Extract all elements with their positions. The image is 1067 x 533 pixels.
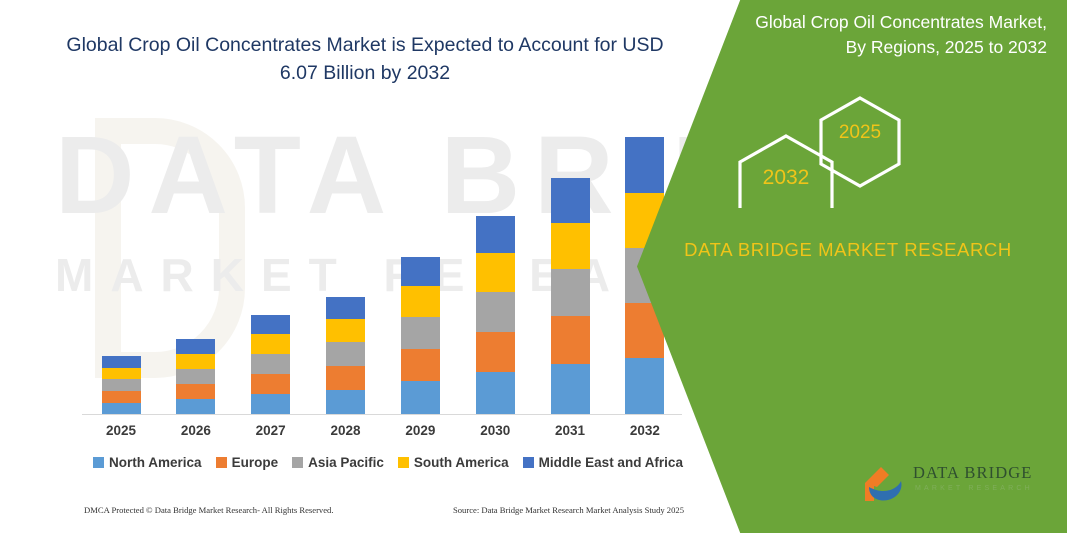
stacked-bar: [102, 356, 141, 415]
bar-segment: [102, 379, 141, 391]
bar-segment: [476, 372, 515, 415]
brand-name: DATA BRIDGE MARKET RESEARCH: [637, 236, 1067, 264]
bar-group: [88, 121, 678, 415]
chart-plot-area: [88, 120, 678, 415]
legend-label: Europe: [232, 455, 279, 470]
footer-source: Source: Data Bridge Market Research Mark…: [453, 505, 684, 515]
bar-segment: [401, 317, 440, 349]
bar-column: [462, 216, 528, 415]
infographic-page: DATA BRIDGE MARKET RESEARCH Global Crop …: [0, 0, 1067, 533]
bar-segment: [102, 368, 141, 379]
legend-swatch-icon: [292, 457, 303, 468]
stacked-bar: [251, 315, 290, 415]
bar-segment: [326, 366, 365, 390]
bar-segment: [401, 286, 440, 317]
legend-label: South America: [414, 455, 509, 470]
bar-segment: [251, 334, 290, 354]
bar-segment: [102, 356, 141, 368]
stacked-bar: [176, 339, 215, 415]
data-bridge-mark-icon: [859, 457, 907, 505]
x-axis-tick-label: 2025: [88, 423, 154, 438]
x-axis-tick-label: 2026: [163, 423, 229, 438]
bar-column: [313, 297, 379, 415]
bar-segment: [625, 137, 664, 193]
hex-label-2025: 2025: [825, 122, 895, 144]
legend-label: Asia Pacific: [308, 455, 384, 470]
bar-column: [88, 356, 154, 415]
bar-segment: [551, 364, 590, 415]
bar-segment: [176, 339, 215, 354]
legend-swatch-icon: [398, 457, 409, 468]
stacked-bar: [551, 178, 590, 415]
x-axis-tick-label: 2032: [612, 423, 678, 438]
bar-segment: [251, 374, 290, 394]
data-bridge-logo: DATA BRIDGE MARKET RESEARCH: [859, 455, 1054, 509]
legend-item[interactable]: Europe: [216, 455, 279, 470]
stacked-bar: [326, 297, 365, 415]
bar-segment: [401, 349, 440, 381]
bar-column: [537, 178, 603, 415]
footer: DMCA Protected © Data Bridge Market Rese…: [84, 505, 684, 515]
bar-segment: [176, 354, 215, 369]
bar-segment: [625, 358, 664, 415]
legend-item[interactable]: Asia Pacific: [292, 455, 384, 470]
bar-column: [163, 339, 229, 415]
stacked-bar: [401, 257, 440, 415]
bar-segment: [551, 269, 590, 316]
hexagon-outlines-icon: [637, 88, 1067, 208]
panel-title: Global Crop Oil Concentrates Market, By …: [747, 10, 1047, 61]
bar-segment: [476, 253, 515, 292]
legend-item[interactable]: North America: [93, 455, 202, 470]
bar-segment: [401, 381, 440, 415]
bar-segment: [251, 354, 290, 374]
chart-legend: North AmericaEuropeAsia PacificSouth Ame…: [88, 455, 688, 470]
hex-label-2032: 2032: [746, 166, 826, 190]
bar-segment: [102, 391, 141, 403]
bar-segment: [176, 384, 215, 399]
bar-segment: [476, 332, 515, 372]
bar-column: [238, 315, 304, 415]
bar-segment: [401, 257, 440, 286]
logo-tagline: MARKET RESEARCH: [915, 485, 1033, 492]
x-axis-tick-label: 2028: [313, 423, 379, 438]
bar-segment: [551, 178, 590, 223]
legend-swatch-icon: [523, 457, 534, 468]
bar-segment: [251, 315, 290, 334]
legend-item[interactable]: Middle East and Africa: [523, 455, 683, 470]
legend-label: North America: [109, 455, 202, 470]
legend-swatch-icon: [93, 457, 104, 468]
bar-segment: [176, 369, 215, 384]
bar-segment: [326, 390, 365, 415]
bar-segment: [551, 316, 590, 364]
bar-segment: [476, 292, 515, 332]
bar-segment: [326, 297, 365, 319]
x-axis-line: [82, 414, 682, 415]
footer-copyright: DMCA Protected © Data Bridge Market Rese…: [84, 505, 334, 515]
x-axis-tick-label: 2031: [537, 423, 603, 438]
bar-segment: [251, 394, 290, 415]
x-axis-tick-label: 2029: [387, 423, 453, 438]
bar-segment: [326, 319, 365, 342]
bar-segment: [326, 342, 365, 366]
bar-column: [387, 257, 453, 415]
stacked-bar: [476, 216, 515, 415]
hexagon-group: 2025 2032: [637, 88, 1067, 208]
bar-segment: [176, 399, 215, 415]
bar-segment: [551, 223, 590, 269]
x-axis-tick-label: 2027: [238, 423, 304, 438]
x-axis-labels: 20252026202720282029203020312032: [88, 423, 678, 438]
logo-wordmark: DATA BRIDGE: [913, 463, 1032, 483]
bar-segment: [476, 216, 515, 253]
legend-label: Middle East and Africa: [539, 455, 683, 470]
legend-item[interactable]: South America: [398, 455, 509, 470]
chart-title: Global Crop Oil Concentrates Market is E…: [60, 32, 670, 87]
x-axis-tick-label: 2030: [462, 423, 528, 438]
legend-swatch-icon: [216, 457, 227, 468]
